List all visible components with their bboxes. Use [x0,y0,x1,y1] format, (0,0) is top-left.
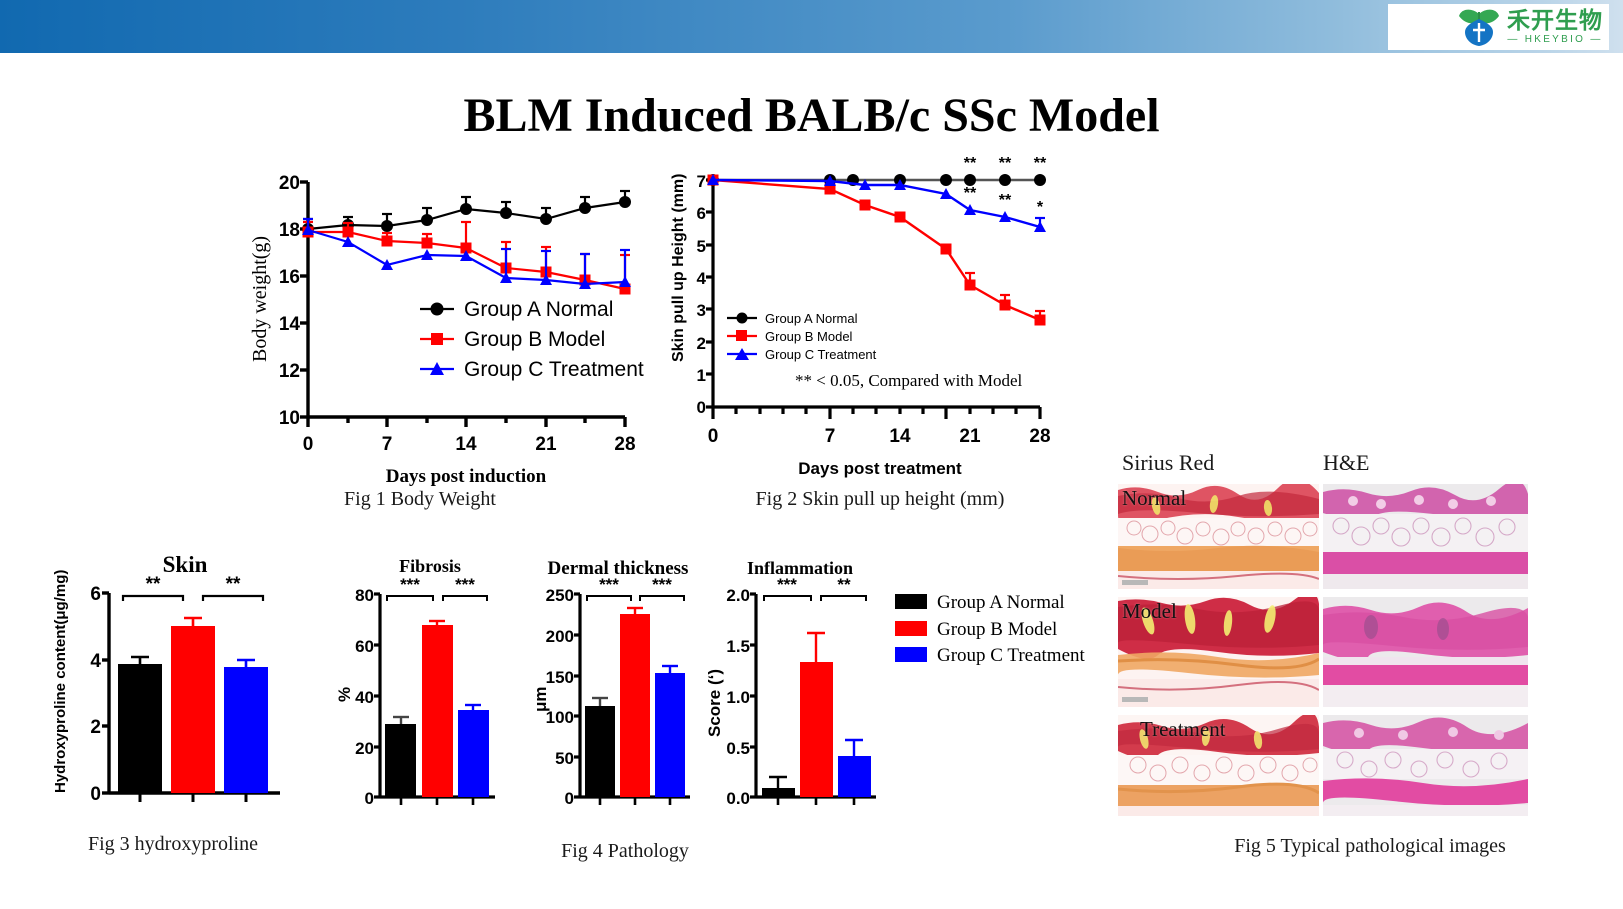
fig2-ylabel: Skin pull up Height (mm) [670,174,687,362]
fig4-legend-label-c: Group C Treatment [937,645,1086,666]
figure-1-body-weight: 20 18 16 14 12 10 Body weight(g) [240,162,640,462]
figure-4-caption: Fig 4 Pathology [480,840,770,863]
histology-image-model-he [1323,597,1528,707]
fig1-legend-item-c: Group C Treatment [420,358,644,381]
fig1-ytick-14: 14 [279,314,301,335]
fig2-legend-label-b: Group B Model [765,329,853,344]
fig2-legend: Group A Normal Group B Model Group C Tre… [727,311,877,362]
fig4b-bar-group-c [655,673,685,797]
fig2-sig-a-28: ** [1034,155,1047,172]
fig2-xlabel: Days post treatment [798,459,962,478]
fig4a-ytick-0: 0 [365,789,374,808]
histology-image-normal-he [1323,484,1528,589]
fig2-x-axis: 0 7 14 21 28 [708,407,1051,447]
fig4-legend-label-a: Group A Normal [937,592,1065,613]
fig4c-ytick-05: 0.5 [726,739,750,758]
fig4c-significance [764,596,866,601]
fig2-sig-c-28: * [1037,199,1044,216]
fig4a-title: Fibrosis [399,556,461,576]
fig3-ylabel: Hydroxyproline content(μg/mg) [52,570,69,793]
fig4a-significance [387,596,487,601]
page-header: 禾开生物 — HKEYBIO — [0,0,1623,53]
fig4c-ytick-10: 1.0 [726,688,750,707]
fig4b-ytick-200: 200 [546,627,574,646]
fig4a-ytick-40: 40 [355,688,374,707]
fig4b-significance [587,596,684,601]
fig4b-bars [585,608,685,797]
fig1-legend-item-b: Group B Model [420,328,605,351]
fig2-legend-item-c: Group C Treatment [727,347,877,362]
histology-row-label-treatment: Treatment [1140,717,1226,742]
fig4a-y-axis: 80 60 40 20 0 % [335,586,380,808]
fig4-legend-svg: Group A Normal Group B Model Group C Tre… [895,588,1105,678]
fig2-legend-label-a: Group A Normal [765,311,858,326]
fig4c-bar-group-c [838,756,871,797]
fig1-ytick-16: 16 [279,267,300,288]
fig2-xtick-0: 0 [708,426,719,447]
figure-1-caption: Fig 1 Body Weight [230,488,610,511]
fig4c-ytick-00: 0.0 [726,789,750,808]
fig3-significance [123,596,263,601]
fig3-y-axis: 6 4 2 0 Hydroxyproline content(μg/mg) [52,570,109,805]
fig4a-chart: Fibrosis 80 60 40 20 0 % [330,552,505,817]
fig3-ytick-2: 2 [90,717,101,738]
fig4-legend-item-c: Group C Treatment [895,645,1086,666]
histology-column-sirius-red: Sirius Red [1122,450,1214,476]
fig2-xtick-21: 21 [959,426,981,447]
fig4a-bar-group-b [422,625,453,797]
fig1-ytick-18: 18 [279,220,300,241]
figure-2-caption: Fig 2 Skin pull up height (mm) [690,488,1070,511]
fig4-legend-swatch-b [895,621,927,636]
fig4c-y-axis: 2.0 1.5 1.0 0.5 0.0 Score (‘) [705,586,756,808]
fig4b-bar-group-b [620,614,650,797]
fig4b-sig-ab: *** [599,575,619,594]
fig2-ytick-0: 0 [697,398,706,417]
fig2-ytick-3: 3 [697,301,706,320]
fig2-sig-c-245: ** [999,192,1012,209]
fig4c-ytick-15: 1.5 [726,637,750,656]
fig3-ytick-6: 6 [90,584,101,605]
fig1-legend-label-b: Group B Model [464,328,605,351]
fig2-legend-item-b: Group B Model [727,329,853,344]
fig4a-ytick-60: 60 [355,637,374,656]
fig3-sig-bc: ** [226,574,241,595]
fig4b-y-axis: 250 200 150 100 50 0 μm [531,586,580,808]
fig2-xtick-14: 14 [889,426,911,447]
fig2-y-axis: 7 6 5 4 3 2 1 0 Skin pull up Height (mm) [670,172,713,417]
histology-column-he: H&E [1323,450,1369,476]
fig2-significance-note: ** < 0.05, Compared with Model [795,371,1023,390]
fig4b-ytick-0: 0 [565,789,574,808]
fig1-ytick-12: 12 [279,361,300,382]
fig2-xtick-7: 7 [825,426,836,447]
fig4b-sig-bc: *** [652,575,672,594]
fig2-sig-c-21: ** [964,185,977,202]
fig1-x-axis: 0 7 14 21 28 [303,417,636,455]
fig4-legend-swatch-a [895,594,927,609]
fig4a-bar-group-c [458,710,489,797]
fig4c-chart: Inflammation 2.0 1.5 1.0 0.5 0.0 Score (… [690,552,890,817]
fig3-bar-group-a [118,664,162,793]
figure-5-caption: Fig 5 Typical pathological images [1170,835,1570,858]
fig3-bar-group-c [224,667,268,793]
fig4a-sig-bc: *** [455,575,475,594]
hkeybio-leaf-drop-icon [1457,7,1501,47]
fig4a-bars [385,621,489,797]
logo-company-name: 禾开生物 [1507,9,1603,32]
fig4c-ylabel: Score (‘) [705,669,724,737]
histology-image-treatment-he [1323,715,1528,816]
fig4c-bar-group-a [762,788,795,797]
figure-2-skin-pull-up: 7 6 5 4 3 2 1 0 Skin pull up Height (mm) [665,162,1065,462]
fig1-ylabel: Body weight(g) [249,236,271,362]
fig4-legend-item-a: Group A Normal [895,592,1065,613]
fig4a-ytick-20: 20 [355,739,374,758]
figure-4b-dermal-thickness: Dermal thickness 250 200 150 100 50 0 μm [518,552,703,817]
fig1-ytick-20: 20 [279,173,300,194]
fig3-ytick-0: 0 [90,784,101,805]
histology-row-label-normal: Normal [1122,486,1186,511]
fig2-sig-a-245: ** [999,155,1012,172]
fig2-ytick-2: 2 [697,334,706,353]
fig3-ytick-4: 4 [90,651,101,672]
fig1-xtick-28: 28 [614,434,635,455]
fig1-legend-label-a: Group A Normal [464,298,613,321]
fig3-bars [118,618,268,793]
fig1-legend-label-c: Group C Treatment [464,358,644,381]
fig2-legend-label-c: Group C Treatment [765,347,877,362]
fig1-xlabel: Days post induction [386,466,547,487]
fig2-ytick-7: 7 [697,172,706,191]
fig4c-ytick-20: 2.0 [726,586,750,605]
fig4-legend-label-b: Group B Model [937,619,1057,640]
fig4c-sig-bc: ** [837,575,851,594]
fig1-legend: Group A Normal Group B Model Group C Tre… [420,298,644,381]
fig2-ytick-5: 5 [697,237,706,256]
fig4c-bars [762,633,871,797]
fig4b-ytick-250: 250 [546,586,574,605]
fig1-chart: 20 18 16 14 12 10 Body weight(g) [240,162,640,462]
fig4a-ytick-80: 80 [355,586,374,605]
fig1-xtick-7: 7 [382,434,393,455]
fig4a-sig-ab: *** [400,575,420,594]
figure-4-legend: Group A Normal Group B Model Group C Tre… [895,588,1105,678]
fig4c-bar-group-b [800,662,833,797]
fig4-legend-item-b: Group B Model [895,619,1057,640]
fig4b-ytick-50: 50 [555,749,574,768]
fig2-chart: 7 6 5 4 3 2 1 0 Skin pull up Height (mm) [665,162,1065,462]
fig4c-sig-ab: *** [777,575,797,594]
fig2-legend-item-a: Group A Normal [727,311,858,326]
fig4b-bar-group-a [585,706,615,797]
fig2-ytick-6: 6 [697,204,706,223]
fig4-legend-swatch-c [895,647,927,662]
fig1-xtick-0: 0 [303,434,314,455]
fig2-xtick-28: 28 [1029,426,1050,447]
fig3-chart: Skin 6 4 2 0 Hydroxyproline content(μg/m… [35,548,305,823]
fig2-ytick-1: 1 [697,366,706,385]
fig2-ytick-4: 4 [697,269,707,288]
fig1-legend-item-a: Group A Normal [420,298,613,321]
fig4a-ylabel: % [335,687,354,702]
page-title: BLM Induced BALB/c SSc Model [0,88,1623,143]
figure-5-histology: Sirius Red H&E [1118,484,1528,816]
fig4b-ytick-150: 150 [546,668,574,687]
fig2-series-group-b [708,175,1046,326]
fig1-xtick-21: 21 [535,434,557,455]
fig2-sig-a-21: ** [964,155,977,172]
fig1-ytick-10: 10 [279,408,300,429]
fig1-y-axis: 20 18 16 14 12 10 Body weight(g) [249,173,308,429]
company-logo: 禾开生物 — HKEYBIO — [1388,4,1609,50]
figure-3-hydroxyproline: Skin 6 4 2 0 Hydroxyproline content(μg/m… [35,548,305,823]
fig4a-bar-group-a [385,724,416,797]
logo-company-abbr: — HKEYBIO — [1507,35,1602,45]
figure-3-caption: Fig 3 hydroxyproline [38,833,308,856]
fig1-xtick-14: 14 [455,434,477,455]
fig4b-chart: Dermal thickness 250 200 150 100 50 0 μm [518,552,703,817]
figure-4a-fibrosis: Fibrosis 80 60 40 20 0 % [330,552,505,817]
fig3-bar-group-b [171,626,215,793]
fig3-sig-ab: ** [146,574,161,595]
fig3-title: Skin [163,552,208,577]
fig4b-ylabel: μm [531,686,550,712]
figure-4c-inflammation: Inflammation 2.0 1.5 1.0 0.5 0.0 Score (… [690,552,890,817]
histology-row-label-model: Model [1122,599,1177,624]
